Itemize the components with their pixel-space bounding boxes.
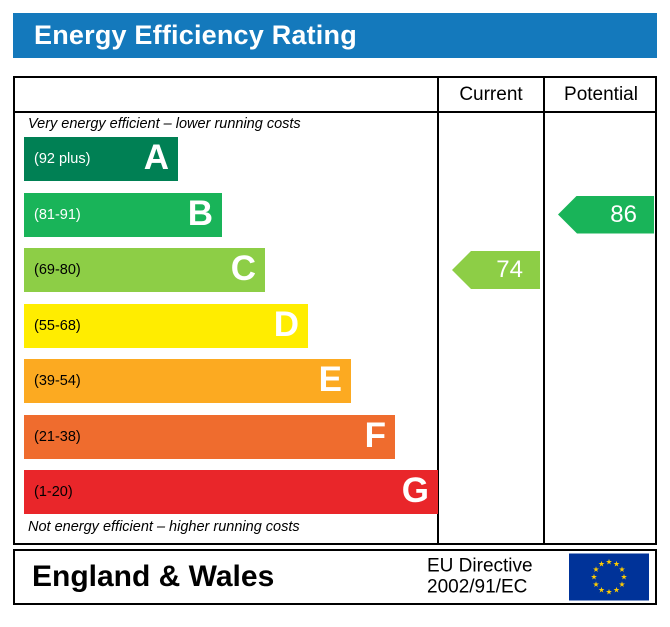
rating-arrow-current: 74 bbox=[452, 251, 540, 289]
footer-region-label: England & Wales bbox=[32, 560, 274, 594]
rating-arrow-potential: 86 bbox=[558, 196, 654, 234]
column-header-current: Current bbox=[439, 78, 543, 111]
footer-bar: England & Wales EU Directive 2002/91/EC bbox=[13, 549, 657, 605]
band-letter-e: E bbox=[319, 362, 351, 397]
band-e: (39-54)E bbox=[24, 359, 351, 403]
note-very-efficient: Very energy efficient – lower running co… bbox=[28, 116, 301, 132]
band-g: (1-20)G bbox=[24, 470, 438, 514]
rating-value-potential: 86 bbox=[610, 201, 637, 229]
band-range-a: (92 plus) bbox=[24, 151, 90, 167]
band-letter-g: G bbox=[402, 473, 438, 508]
rating-value-current: 74 bbox=[496, 256, 523, 284]
band-range-g: (1-20) bbox=[24, 484, 73, 500]
band-a: (92 plus)A bbox=[24, 137, 178, 181]
band-c: (69-80)C bbox=[24, 248, 265, 292]
band-letter-c: C bbox=[231, 251, 265, 286]
eu-directive-line1: EU Directive bbox=[427, 556, 533, 577]
band-range-f: (21-38) bbox=[24, 429, 81, 445]
bands-panel: Very energy efficient – lower running co… bbox=[15, 113, 437, 545]
band-range-c: (69-80) bbox=[24, 262, 81, 278]
eu-directive-line2: 2002/91/EC bbox=[427, 577, 533, 598]
column-divider-potential bbox=[543, 78, 545, 543]
band-letter-a: A bbox=[144, 140, 178, 175]
note-not-efficient: Not energy efficient – higher running co… bbox=[28, 519, 300, 535]
band-range-d: (55-68) bbox=[24, 318, 81, 334]
energy-rating-chart: Current Potential Very energy efficient … bbox=[13, 76, 657, 545]
band-letter-d: D bbox=[274, 307, 308, 342]
page-title: Energy Efficiency Rating bbox=[13, 22, 357, 49]
band-range-b: (81-91) bbox=[24, 207, 81, 223]
band-letter-b: B bbox=[188, 196, 222, 231]
band-b: (81-91)B bbox=[24, 193, 222, 237]
title-bar: Energy Efficiency Rating bbox=[13, 13, 657, 58]
band-d: (55-68)D bbox=[24, 304, 308, 348]
band-range-e: (39-54) bbox=[24, 373, 81, 389]
eu-flag-icon bbox=[569, 554, 649, 601]
band-letter-f: F bbox=[365, 418, 395, 453]
band-f: (21-38)F bbox=[24, 415, 395, 459]
column-header-potential: Potential bbox=[545, 78, 657, 111]
eu-directive-label: EU Directive 2002/91/EC bbox=[427, 556, 533, 599]
